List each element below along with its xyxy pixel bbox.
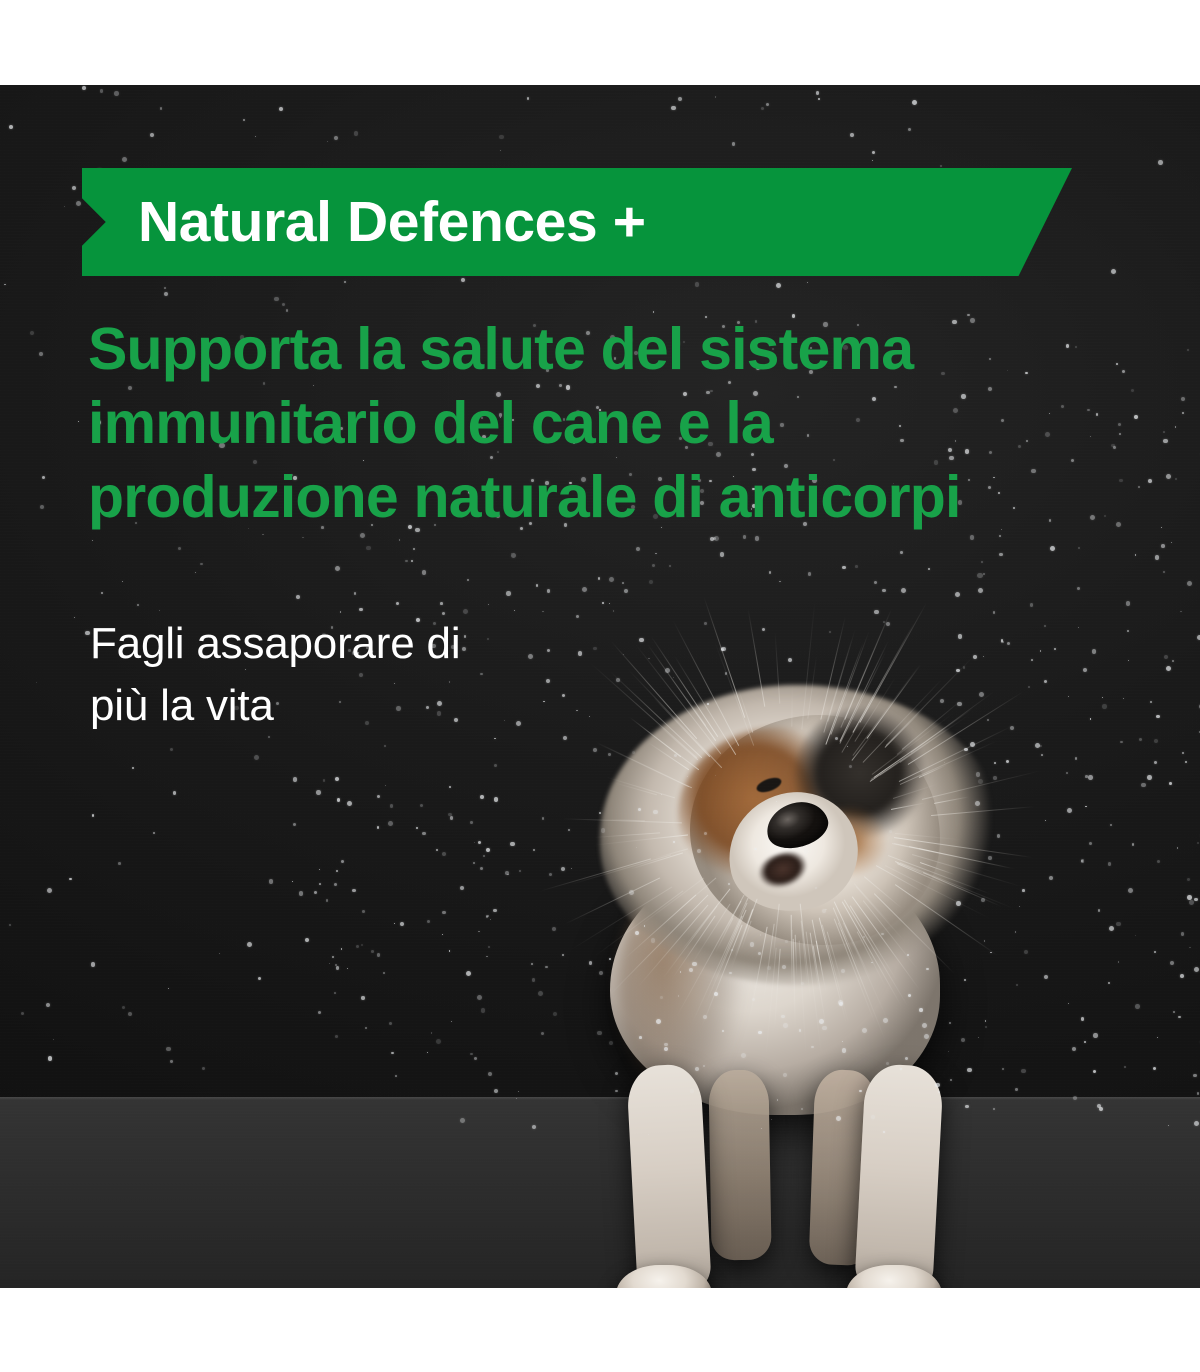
dog-front-right-leg: [854, 1063, 944, 1288]
subcopy: Fagli assaporare di più la vita: [90, 613, 650, 737]
dog-front-left-leg: [626, 1063, 712, 1288]
poster-canvas: Natural Defences + Supporta la salute de…: [0, 0, 1200, 1372]
headline-line-1: Supporta la salute del sistema: [88, 312, 1148, 386]
subcopy-line-1: Fagli assaporare di: [90, 613, 650, 675]
dog-back-left-leg: [708, 1069, 771, 1260]
banner-label: Natural Defences +: [138, 194, 646, 251]
subcopy-line-2: più la vita: [90, 675, 650, 737]
headline-line-3: produzione naturale di anticorpi: [88, 460, 1148, 534]
natural-defences-banner: Natural Defences +: [82, 168, 1072, 276]
headline: Supporta la salute del sistema immunitar…: [88, 312, 1148, 534]
headline-line-2: immunitario del cane e la: [88, 386, 1148, 460]
